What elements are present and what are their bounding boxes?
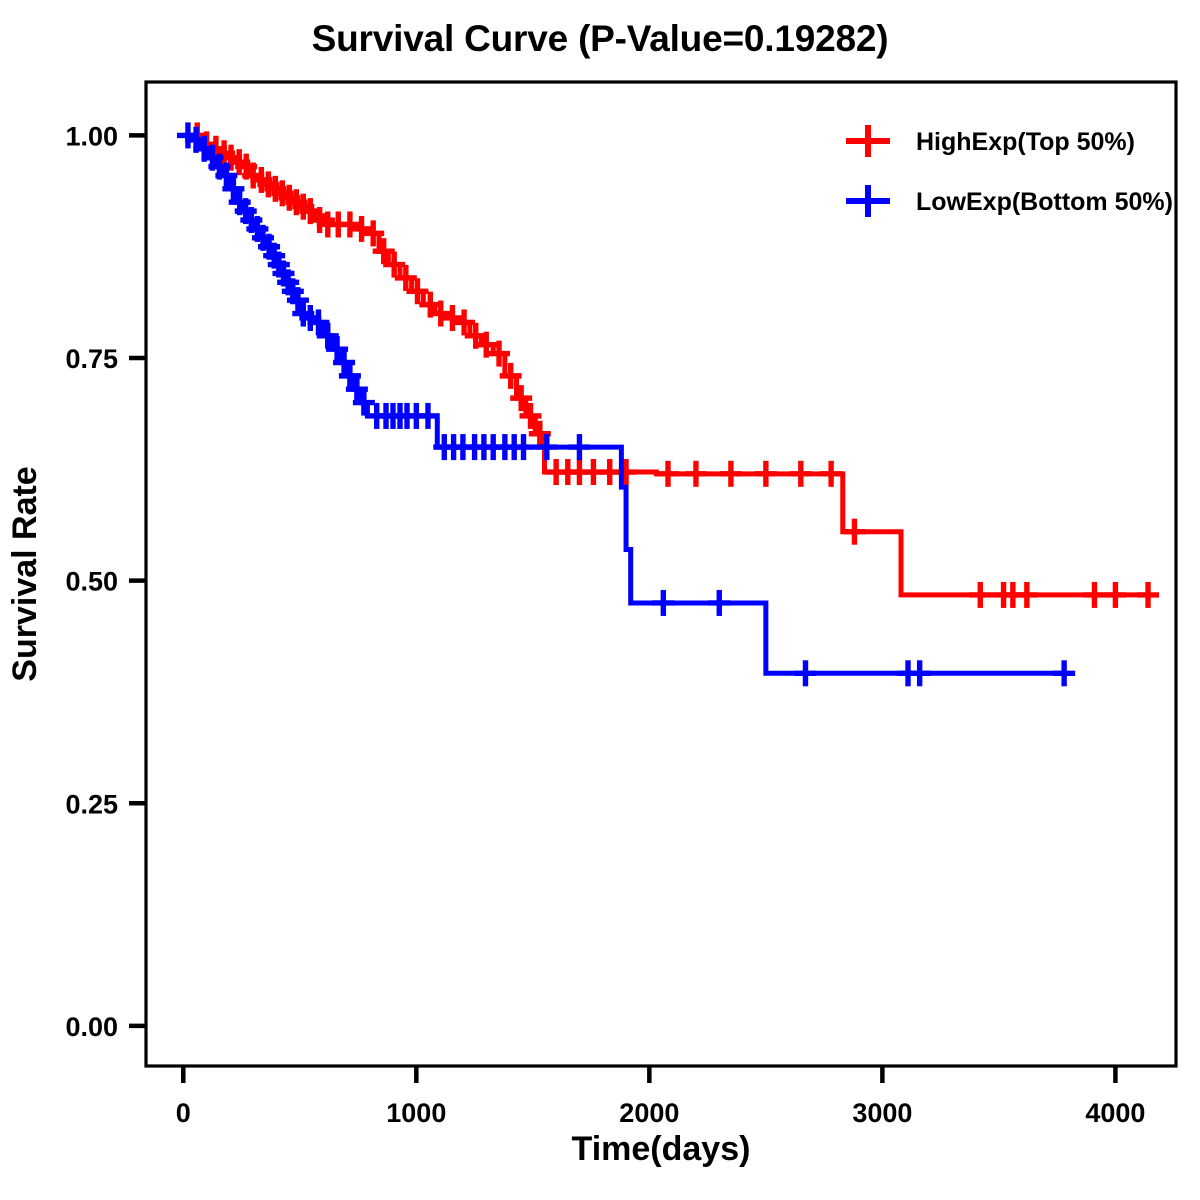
y-axis-title: Survival Rate: [6, 466, 44, 681]
x-tick-label: 2000: [619, 1098, 679, 1128]
y-tick-label: 0.50: [65, 567, 118, 597]
x-tick-label: 0: [176, 1098, 191, 1128]
x-axis-title: Time(days): [572, 1130, 751, 1168]
x-tick-label: 4000: [1085, 1098, 1145, 1128]
survival-plot: 010002000300040000.000.250.500.751.00Tim…: [0, 0, 1200, 1200]
y-tick-label: 0.00: [65, 1012, 118, 1042]
survival-curve-figure: Survival Curve (P-Value=0.19282) 0100020…: [0, 0, 1200, 1200]
legend-label: LowExp(Bottom 50%): [916, 188, 1173, 216]
plot-frame: [146, 82, 1176, 1066]
x-tick-label: 3000: [852, 1098, 912, 1128]
y-tick-label: 0.75: [65, 344, 118, 374]
y-tick-label: 0.25: [65, 789, 118, 819]
legend-label: HighExp(Top 50%): [916, 128, 1135, 156]
x-tick-label: 1000: [386, 1098, 446, 1128]
y-tick-label: 1.00: [65, 121, 118, 151]
